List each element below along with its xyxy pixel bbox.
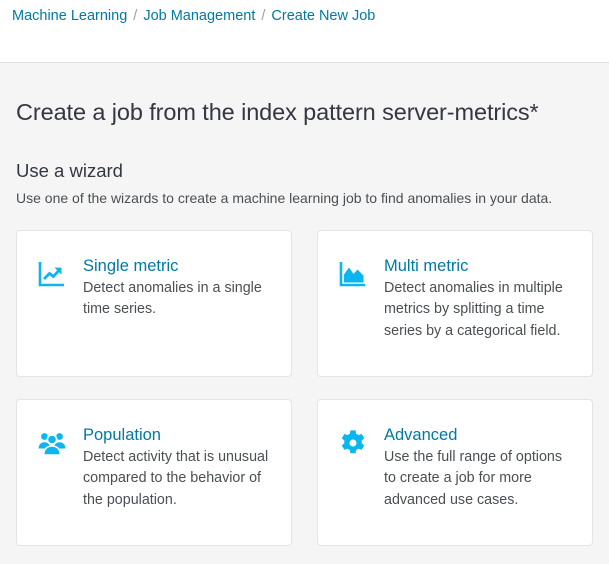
card-title[interactable]: Multi metric xyxy=(384,257,572,276)
breadcrumb-machine-learning[interactable]: Machine Learning xyxy=(12,9,127,24)
card-description: Detect anomalies in a single time series… xyxy=(83,278,271,320)
breadcrumb-separator-1: / xyxy=(133,9,137,24)
population-users-icon xyxy=(37,428,67,458)
breadcrumb-create-new-job[interactable]: Create New Job xyxy=(271,9,375,24)
card-title[interactable]: Population xyxy=(83,426,271,445)
section-title-use-a-wizard: Use a wizard xyxy=(16,126,593,182)
wizard-card-single-metric[interactable]: Single metric Detect anomalies in a sing… xyxy=(16,230,292,377)
card-description: Detect anomalies in multiple metrics by … xyxy=(384,278,572,341)
create-new-job-page: Machine Learning / Job Management / Crea… xyxy=(0,0,609,564)
page-header: Machine Learning / Job Management / Crea… xyxy=(0,0,609,62)
breadcrumb: Machine Learning / Job Management / Crea… xyxy=(12,9,609,24)
page-title: Create a job from the index pattern serv… xyxy=(16,63,593,126)
advanced-gear-icon xyxy=(338,428,368,458)
breadcrumb-job-management[interactable]: Job Management xyxy=(143,9,255,24)
card-body: Population Detect activity that is unusu… xyxy=(83,426,271,511)
card-title[interactable]: Single metric xyxy=(83,257,271,276)
wizard-card-advanced[interactable]: Advanced Use the full range of options t… xyxy=(317,399,593,546)
card-body: Single metric Detect anomalies in a sing… xyxy=(83,257,271,321)
section-description: Use one of the wizards to create a machi… xyxy=(16,182,593,206)
card-body: Advanced Use the full range of options t… xyxy=(384,426,572,511)
main-panel: Create a job from the index pattern serv… xyxy=(0,62,609,564)
wizard-card-population[interactable]: Population Detect activity that is unusu… xyxy=(16,399,292,546)
wizard-card-grid: Single metric Detect anomalies in a sing… xyxy=(16,230,593,546)
breadcrumb-separator-2: / xyxy=(261,9,265,24)
card-description: Detect activity that is unusual compared… xyxy=(83,447,271,510)
wizard-card-multi-metric[interactable]: Multi metric Detect anomalies in multipl… xyxy=(317,230,593,377)
card-description: Use the full range of options to create … xyxy=(384,447,572,510)
card-body: Multi metric Detect anomalies in multipl… xyxy=(384,257,572,342)
single-metric-line-chart-icon xyxy=(37,259,67,289)
card-title[interactable]: Advanced xyxy=(384,426,572,445)
multi-metric-area-chart-icon xyxy=(338,259,368,289)
